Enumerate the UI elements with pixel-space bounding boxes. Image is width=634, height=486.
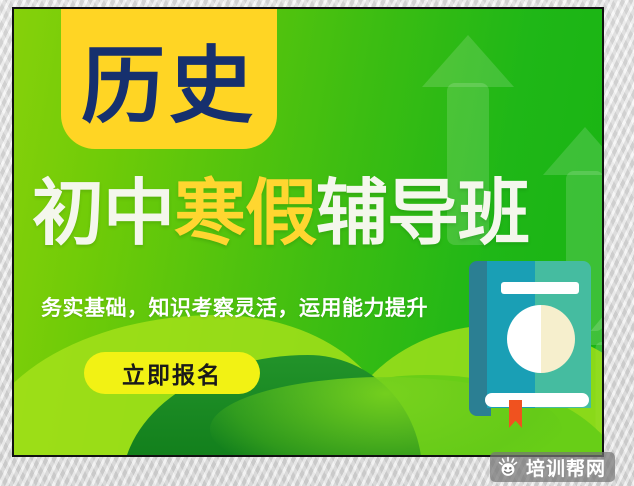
arrow-head	[422, 35, 514, 87]
textbook-icon	[469, 261, 591, 416]
promotional-poster: 历史 初中寒假辅导班 务实基础，知识考察灵活，运用能力提升 立即报名	[12, 7, 604, 457]
page-title: 初中寒假辅导班	[32, 177, 592, 249]
headline-part-2: 寒假	[174, 171, 316, 255]
headline-part-3: 辅导班	[316, 171, 529, 255]
watermark-label: 培训帮网	[526, 454, 606, 481]
book-circle-emblem	[507, 305, 575, 373]
arrow-head	[543, 127, 604, 175]
signup-button-label: 立即报名	[122, 356, 222, 390]
smiling-sun-icon	[497, 456, 519, 478]
watermark-badge: 培训帮网	[490, 452, 615, 482]
book-bottom-bar	[485, 393, 589, 407]
subject-badge-label: 历史	[81, 28, 257, 128]
book-top-bar	[501, 282, 579, 294]
signup-button[interactable]: 立即报名	[84, 352, 260, 394]
subtitle-text: 务实基础，知识考察灵活，运用能力提升	[41, 292, 428, 322]
subject-badge: 历史	[61, 7, 277, 149]
outer-frame: 历史 初中寒假辅导班 务实基础，知识考察灵活，运用能力提升 立即报名	[0, 0, 634, 486]
headline-part-1: 初中	[32, 171, 174, 255]
